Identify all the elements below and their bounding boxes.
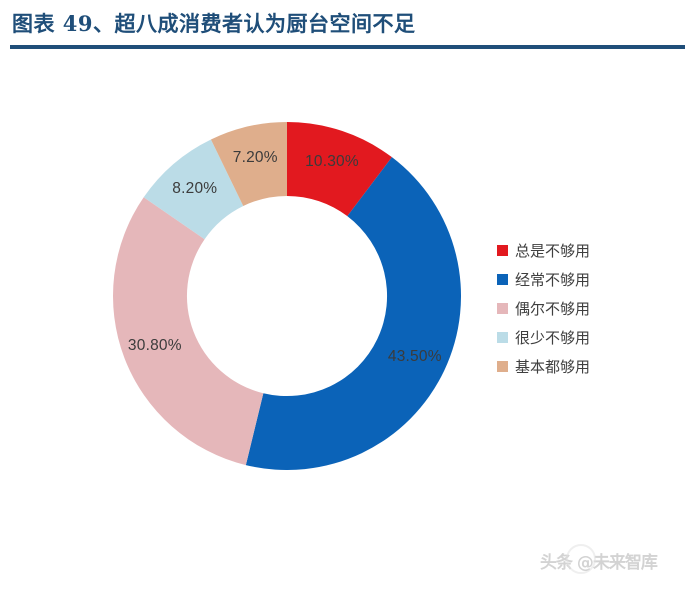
donut-data-label-1: 10.30% [305,153,359,171]
donut-data-label-4: 8.20% [172,180,217,198]
donut-slice-group [113,122,461,470]
donut-data-label-3: 30.80% [128,337,182,355]
watermark: 头条 @未来智库 [540,548,690,574]
donut-slice-3[interactable] [113,197,263,465]
legend-item-label: 总是不够用 [515,240,590,261]
legend-swatch-icon [497,361,508,372]
legend-item-1[interactable]: 总是不够用 [497,236,637,265]
donut-data-label-5: 7.20% [233,149,278,167]
legend-item-4[interactable]: 很少不够用 [497,323,637,352]
legend-item-label: 很少不够用 [515,327,590,348]
chart-area: 10.30%43.50%30.80%8.20%7.20% 总是不够用经常不够用偶… [0,56,695,536]
donut-chart: 10.30%43.50%30.80%8.20%7.20% [113,122,461,470]
legend-item-label: 经常不够用 [515,269,590,290]
legend-item-label: 基本都够用 [515,356,590,377]
donut-data-label-2: 43.50% [388,348,442,366]
legend-swatch-icon [497,303,508,314]
page-title: 图表 49、超八成消费者认为厨台空间不足 [12,8,416,38]
legend-swatch-icon [497,245,508,256]
legend-item-2[interactable]: 经常不够用 [497,265,637,294]
chart-legend: 总是不够用经常不够用偶尔不够用很少不够用基本都够用 [497,236,637,381]
chart-header: 图表 49、超八成消费者认为厨台空间不足 [0,0,695,52]
legend-item-5[interactable]: 基本都够用 [497,352,637,381]
legend-swatch-icon [497,274,508,285]
watermark-ring-icon [566,544,596,574]
legend-swatch-icon [497,332,508,343]
donut-chart-svg [113,122,461,470]
legend-item-label: 偶尔不够用 [515,298,590,319]
legend-item-3[interactable]: 偶尔不够用 [497,294,637,323]
watermark-text: 头条 @未来智库 [540,553,657,573]
header-divider [10,45,685,49]
